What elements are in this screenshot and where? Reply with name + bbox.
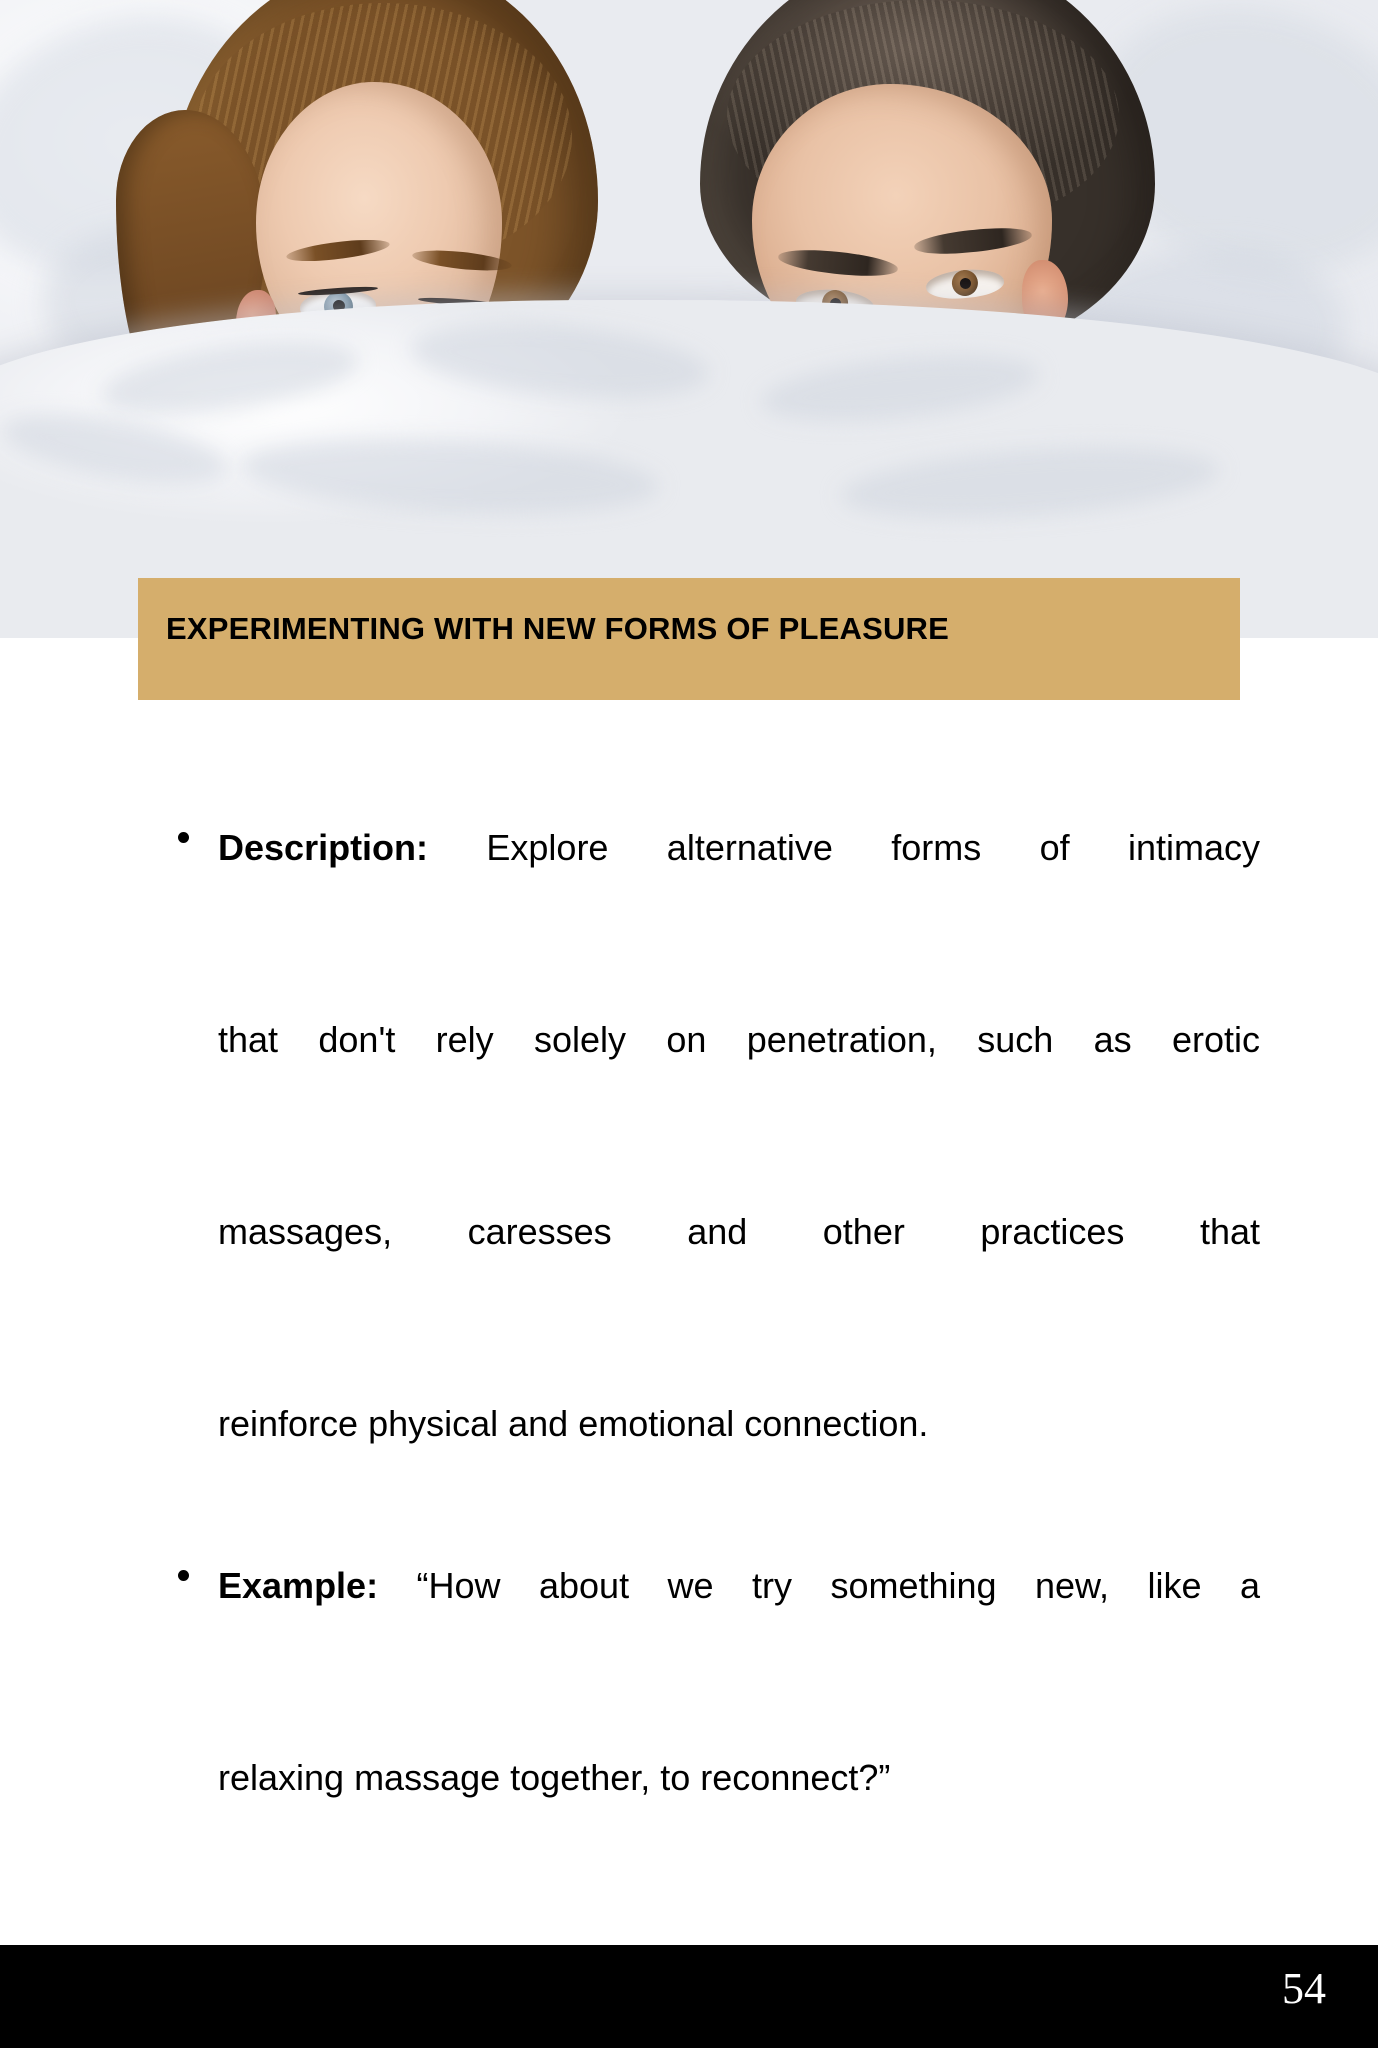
list-item: Description: Explore alternative forms o… bbox=[150, 800, 1260, 1472]
bullet-line: reinforce physical and emotional connect… bbox=[218, 1403, 928, 1444]
duvet-crease bbox=[97, 328, 363, 428]
bullet-label: Example: bbox=[218, 1565, 378, 1606]
footer-bar: 54 bbox=[0, 1945, 1378, 2048]
duvet-crease bbox=[238, 429, 661, 523]
bullet-paragraph: Description: Explore alternative forms o… bbox=[218, 800, 1260, 1472]
bullet-paragraph: Example: “How about we try something new… bbox=[218, 1538, 1260, 1826]
duvet-crease bbox=[408, 313, 713, 409]
man-iris-right bbox=[951, 269, 979, 297]
slide-root: EXPERIMENTING WITH NEW FORMS OF PLEASURE… bbox=[0, 0, 1378, 2048]
duvet-crease bbox=[838, 437, 1222, 529]
hero-photo bbox=[0, 0, 1378, 638]
list-item: Example: “How about we try something new… bbox=[150, 1538, 1260, 1826]
bullet-line: Explore alternative forms of intimacy bbox=[486, 827, 1260, 868]
bullet-line: that don't rely solely on penetration, s… bbox=[218, 1019, 1260, 1060]
page-title: EXPERIMENTING WITH NEW FORMS OF PLEASURE bbox=[166, 612, 949, 646]
bullet-line: “How about we try something new, like a bbox=[417, 1565, 1260, 1606]
duvet-crease bbox=[758, 344, 1043, 433]
bullet-dot-icon bbox=[178, 832, 189, 843]
duvet-crease bbox=[0, 400, 233, 497]
photo-background bbox=[0, 0, 1378, 638]
title-banner: EXPERIMENTING WITH NEW FORMS OF PLEASURE bbox=[138, 578, 1240, 700]
page-number: 54 bbox=[1282, 1967, 1326, 2011]
content-body: Description: Explore alternative forms o… bbox=[150, 800, 1260, 1826]
bullet-line: relaxing massage together, to reconnect?… bbox=[218, 1757, 890, 1798]
bullet-label: Description: bbox=[218, 827, 428, 868]
bullet-line: massages, caresses and other practices t… bbox=[218, 1211, 1260, 1252]
bullet-dot-icon bbox=[178, 1570, 189, 1581]
